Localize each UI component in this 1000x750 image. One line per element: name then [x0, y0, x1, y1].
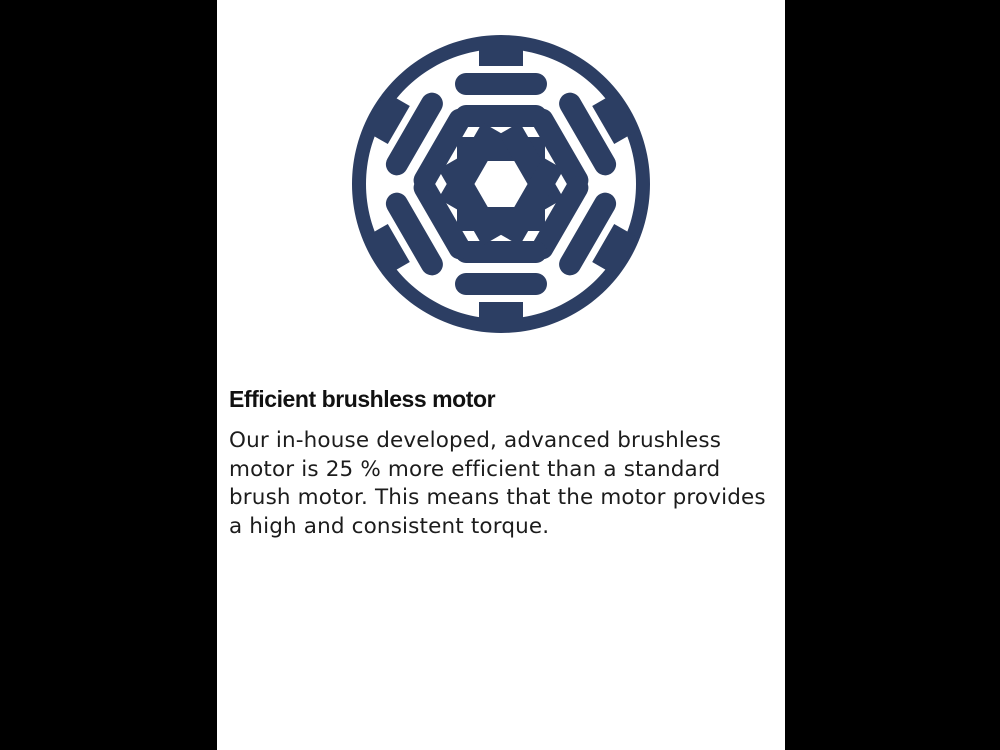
feature-title: Efficient brushless motor [229, 384, 777, 414]
letterbox-bar-right [785, 0, 1000, 750]
feature-card: Efficient brushless motor Our in-house d… [217, 0, 785, 750]
screen-root: Efficient brushless motor Our in-house d… [0, 0, 1000, 750]
illustration-area [217, 0, 785, 366]
letterbox-bar-left [0, 0, 217, 750]
feature-text-block: Efficient brushless motor Our in-house d… [229, 384, 777, 541]
brushless-motor-icon [335, 18, 667, 350]
feature-description: Our in-house developed, advanced brushle… [229, 427, 774, 541]
